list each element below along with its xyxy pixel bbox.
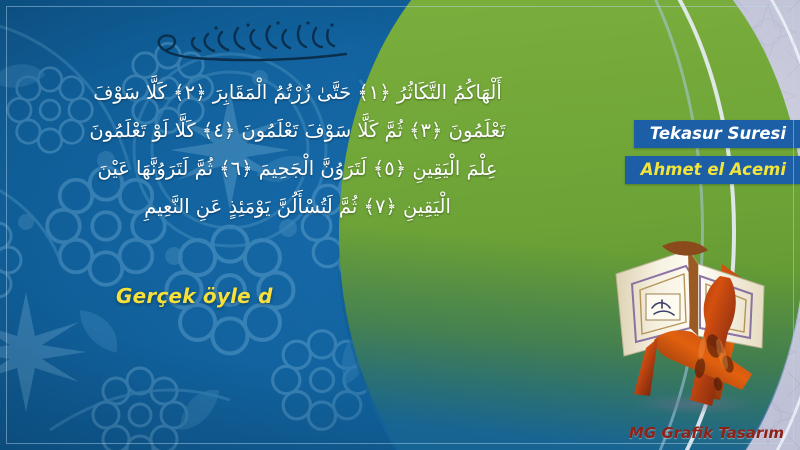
designer-credit: MG Grafik Tasarım [629, 424, 784, 442]
sura-name-label: Tekasur Suresi [634, 120, 800, 148]
verse-line: عِلْمَ الْيَقِينِ ﴿٥﴾ لَتَرَوُنَّ الْجَح… [40, 150, 555, 188]
quran-on-rihal-image [602, 228, 782, 418]
quran-verse-block: أَلْهَاكُمُ التَّكَاثُرُ ﴿١﴾ حَتَّىٰ زُر… [40, 74, 555, 226]
verse-line: أَلْهَاكُمُ التَّكَاثُرُ ﴿١﴾ حَتَّىٰ زُر… [40, 74, 555, 112]
verse-line: الْيَقِينِ ﴿٧﴾ ثُمَّ لَتُسْأَلُنَّ يَوْم… [40, 188, 555, 226]
presentation-slide: أَلْهَاكُمُ التَّكَاثُرُ ﴿١﴾ حَتَّىٰ زُر… [0, 0, 800, 450]
turkish-translation-text: Gerçek öyle d [116, 284, 273, 308]
verse-line: تَعْلَمُونَ ﴿٣﴾ ثُمَّ كَلَّا سَوْفَ تَعْ… [40, 112, 555, 150]
reciter-name-label: Ahmet el Acemi [625, 156, 800, 184]
bismillah-calligraphy [150, 14, 350, 70]
